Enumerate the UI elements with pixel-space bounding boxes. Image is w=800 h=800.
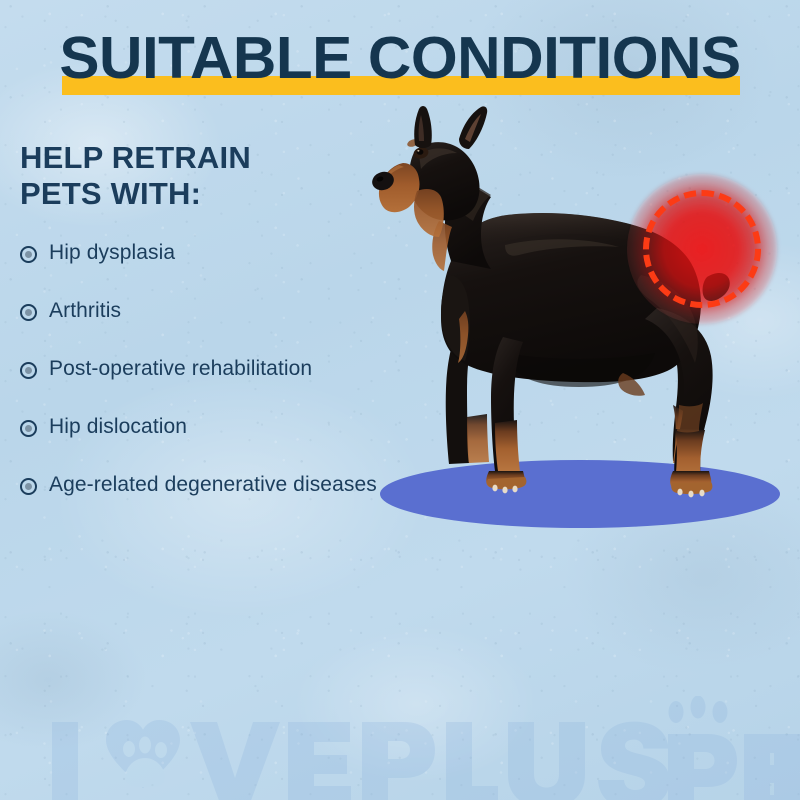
condition-label: Post-operative rehabilitation: [49, 356, 312, 382]
list-item: Arthritis: [20, 298, 380, 356]
hip-pain-marker: [643, 190, 761, 308]
dog-illustration: [355, 105, 800, 535]
list-item: Hip dislocation: [20, 414, 380, 472]
radio-bullet-icon: [20, 304, 37, 321]
conditions-list: Hip dysplasia Arthritis Post-operative r…: [20, 240, 380, 530]
condition-label: Hip dysplasia: [49, 240, 175, 266]
condition-label: Age-related degenerative diseases: [49, 472, 377, 498]
page-title: SUITABLE CONDITIONS: [0, 22, 800, 94]
section-subheading: HELP RETRAIN PETS WITH:: [20, 140, 380, 212]
list-item: Hip dysplasia: [20, 240, 380, 298]
poster-canvas: SUITABLE CONDITIONS HELP RETRAIN PETS WI…: [0, 0, 800, 800]
left-content-column: HELP RETRAIN PETS WITH: Hip dysplasia Ar…: [20, 140, 380, 530]
radio-bullet-icon: [20, 420, 37, 437]
list-item: Post-operative rehabilitation: [20, 356, 380, 414]
condition-label: Hip dislocation: [49, 414, 187, 440]
radio-bullet-icon: [20, 478, 37, 495]
radio-bullet-icon: [20, 246, 37, 263]
radio-bullet-icon: [20, 362, 37, 379]
watermark-loveplus pet: [0, 696, 800, 800]
list-item: Age-related degenerative diseases: [20, 472, 380, 530]
title-block: SUITABLE CONDITIONS: [0, 22, 800, 102]
condition-label: Arthritis: [49, 298, 121, 324]
pain-dashed-ring-icon: [643, 190, 761, 308]
doberman-dog-icon: [355, 105, 800, 535]
